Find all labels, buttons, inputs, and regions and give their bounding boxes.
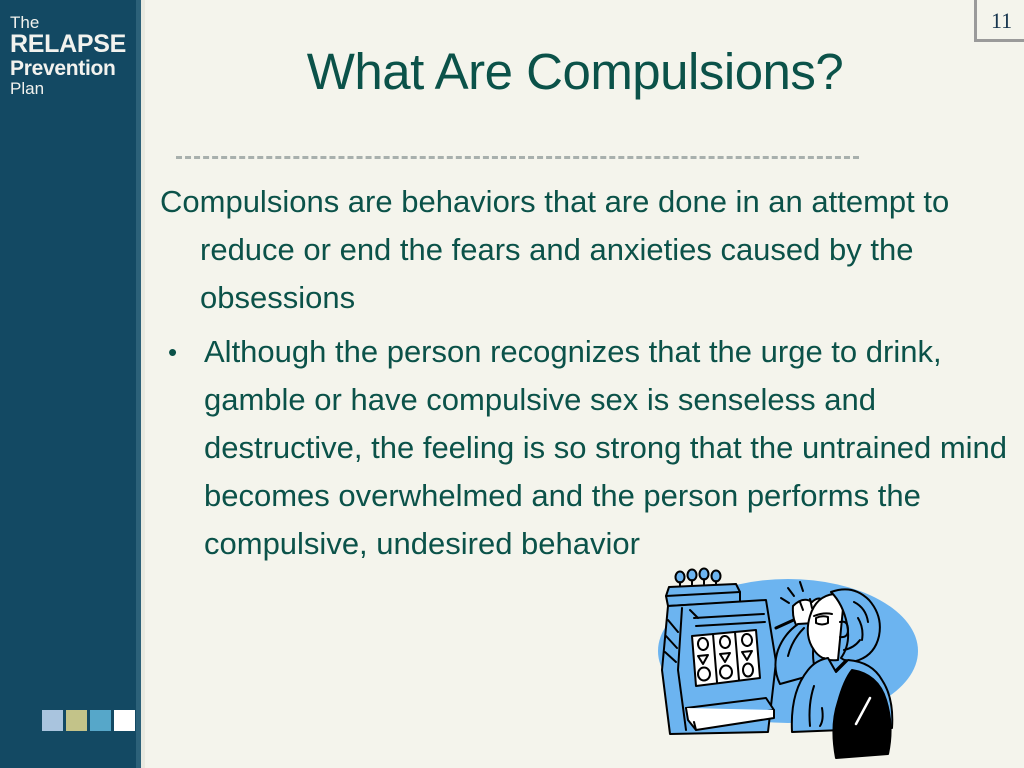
brand-logo: The RELAPSE Prevention Plan xyxy=(10,14,136,97)
color-swatch-strip xyxy=(42,710,135,731)
bullet-icon: • xyxy=(168,328,177,376)
slot-machine-gambler-clipart xyxy=(648,558,924,768)
bullet-text: Although the person recognizes that the … xyxy=(204,334,1007,561)
paragraph-compulsions-definition: Compulsions are behaviors that are done … xyxy=(160,178,1010,322)
sidebar xyxy=(0,0,136,768)
swatch-khaki xyxy=(66,710,87,731)
logo-line-prevention: Prevention xyxy=(10,58,136,79)
page-number-box: 11 xyxy=(974,0,1024,42)
sidebar-gap-stripe xyxy=(141,0,145,768)
logo-line-relapse: RELAPSE xyxy=(10,32,136,57)
logo-line-plan: Plan xyxy=(10,80,136,97)
page-title: What Are Compulsions? xyxy=(180,42,970,101)
list-item: • Although the person recognizes that th… xyxy=(160,328,1010,568)
logo-line-the: The xyxy=(10,14,136,31)
divider xyxy=(176,156,859,159)
page-number: 11 xyxy=(991,8,1012,34)
body-content: Compulsions are behaviors that are done … xyxy=(160,178,1010,568)
swatch-light-blue xyxy=(42,710,63,731)
swatch-white xyxy=(114,710,135,731)
swatch-medium-blue xyxy=(90,710,111,731)
slide: The RELAPSE Prevention Plan 11 What Are … xyxy=(0,0,1024,768)
